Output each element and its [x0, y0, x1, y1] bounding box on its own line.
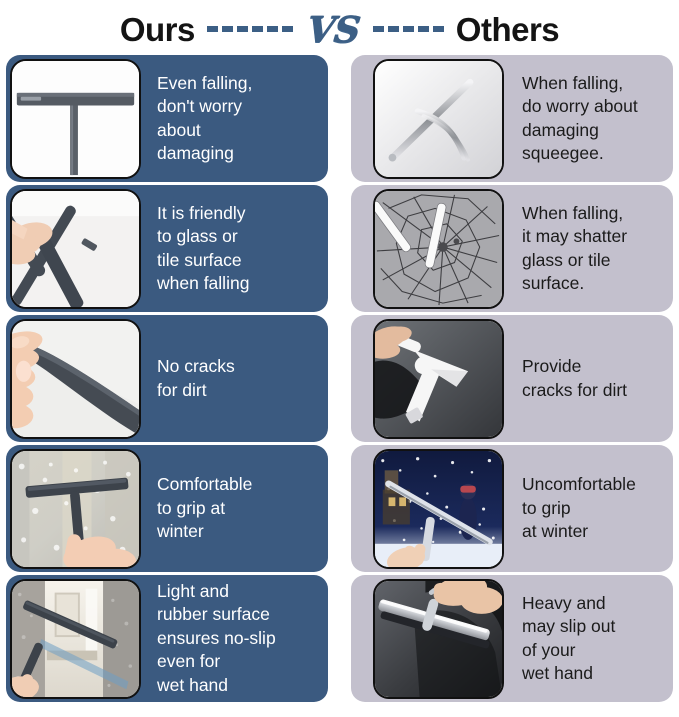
hand-holding-dark-squeegee-icon	[12, 191, 139, 307]
product-thumbnail	[10, 319, 141, 439]
seamless-handle-closeup-icon	[12, 321, 139, 437]
product-thumbnail	[10, 449, 141, 569]
ours-card-text: Light and rubber surface ensures no-slip…	[141, 580, 328, 698]
ours-card: No cracks for dirt	[6, 315, 328, 442]
comparison-grid: Even falling, don't worry about damaging	[0, 55, 679, 702]
ours-card-text: No cracks for dirt	[141, 355, 328, 402]
comparison-header: Ours VS Others	[0, 0, 679, 55]
comparison-row: It is friendly to glass or tile surface …	[6, 185, 673, 312]
ours-card-text: Comfortable to grip at winter	[141, 473, 328, 544]
others-card-text: Provide cracks for dirt	[504, 355, 673, 402]
product-thumbnail	[10, 579, 141, 699]
header-vs-badge: VS	[303, 12, 363, 48]
squeegee-on-foggy-mirror-icon	[12, 581, 139, 697]
others-card: Heavy and may slip out of your wet hand	[351, 575, 673, 702]
squeegee-on-wet-shower-glass-icon	[12, 451, 139, 567]
bent-metal-squeegee-icon	[375, 61, 502, 177]
comparison-row: Comfortable to grip at winter	[6, 445, 673, 572]
product-thumbnail	[373, 449, 504, 569]
others-card-text: When falling, do worry about damaging sq…	[504, 72, 673, 166]
ours-card-text: Even falling, don't worry about damaging	[141, 72, 328, 166]
ours-card-text: It is friendly to glass or tile surface …	[141, 202, 328, 296]
others-card-text: When falling, it may shatter glass or ti…	[504, 202, 673, 296]
comparison-row: Even falling, don't worry about damaging	[6, 55, 673, 182]
comparison-row: No cracks for dirt	[6, 315, 673, 442]
ours-card: It is friendly to glass or tile surface …	[6, 185, 328, 312]
others-card-text: Uncomfortable to grip at winter	[504, 473, 673, 544]
header-ours-label: Ours	[120, 13, 195, 46]
product-thumbnail	[373, 59, 504, 179]
others-card: When falling, do worry about damaging sq…	[351, 55, 673, 182]
ours-card: Even falling, don't worry about damaging	[6, 55, 328, 182]
ours-card: Comfortable to grip at winter	[6, 445, 328, 572]
ours-card: Light and rubber surface ensures no-slip…	[6, 575, 328, 702]
header-dash-left	[207, 26, 293, 34]
chrome-squeegee-on-dark-glass-icon	[375, 581, 502, 697]
gray-t-squeegee-on-white-icon	[12, 61, 139, 177]
product-thumbnail	[10, 59, 141, 179]
header-dash-right	[373, 26, 444, 34]
shattered-glass-with-squeegee-icon	[375, 191, 502, 307]
product-thumbnail	[373, 319, 504, 439]
others-card: Provide cracks for dirt	[351, 315, 673, 442]
product-thumbnail	[10, 189, 141, 309]
header-others-label: Others	[456, 13, 559, 46]
product-thumbnail	[373, 189, 504, 309]
others-card: Uncomfortable to grip at winter	[351, 445, 673, 572]
others-card-text: Heavy and may slip out of your wet hand	[504, 592, 673, 686]
metal-squeegee-in-snow-icon	[375, 451, 502, 567]
comparison-row: Light and rubber surface ensures no-slip…	[6, 575, 673, 702]
white-jointed-squeegee-icon	[375, 321, 502, 437]
product-thumbnail	[373, 579, 504, 699]
others-card: When falling, it may shatter glass or ti…	[351, 185, 673, 312]
